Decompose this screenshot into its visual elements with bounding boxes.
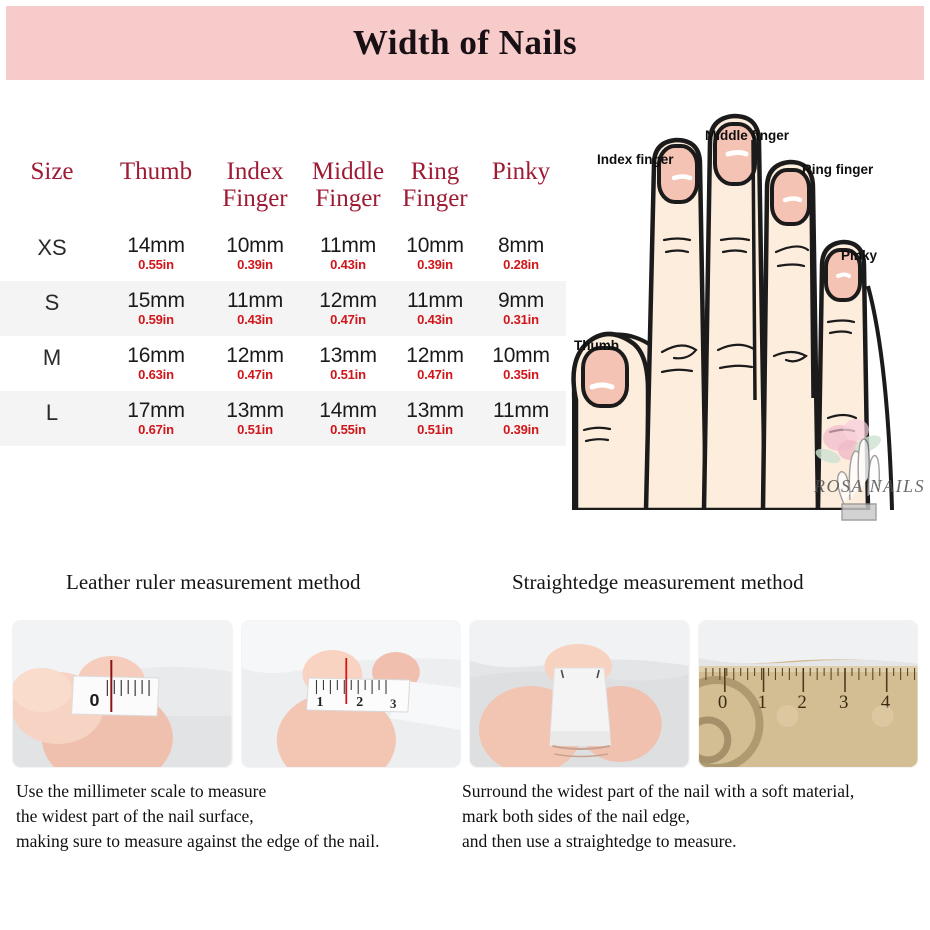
middle-nail-highlight [728, 153, 746, 155]
cell-thumb: 16mm0.63in [104, 336, 208, 382]
cell-size: S [0, 281, 104, 316]
label-pinky: Pinky [841, 248, 877, 263]
cell-pinky: 8mm0.28in [476, 226, 566, 272]
cell-middle: 12mm0.47in [302, 281, 394, 327]
cell-index: 11mm0.43in [208, 281, 302, 327]
cell-size: L [0, 391, 104, 426]
caption-straightedge-method: Surround the widest part of the nail wit… [462, 779, 854, 854]
thumb-nail [583, 348, 627, 406]
index-nail-highlight [674, 177, 690, 179]
cell-pinky: 10mm0.35in [476, 336, 566, 382]
caption-line: Surround the widest part of the nail wit… [462, 779, 854, 804]
column-header-pinky: Pinky [476, 148, 566, 185]
cell-ring: 12mm0.47in [394, 336, 476, 382]
tape-zero-mark: 0 [89, 690, 99, 710]
heading-leather-ruler-method: Leather ruler measurement method [66, 570, 360, 595]
caption-line: mark both sides of the nail edge, [462, 804, 854, 829]
cell-thumb: 14mm0.55in [104, 226, 208, 272]
cell-pinky: 11mm0.39in [476, 391, 566, 437]
table-header-row: Size Thumb IndexFinger MiddleFinger Ring… [0, 148, 566, 226]
thumb-nail-highlight [592, 385, 612, 387]
cell-size: XS [0, 226, 104, 261]
photo-row: 0 1 2 3 [12, 620, 918, 768]
label-index-finger: Index finger [597, 152, 674, 167]
caption-line: and then use a straightedge to measure. [462, 829, 854, 854]
header-line-2: Finger [402, 185, 467, 212]
heading-straightedge-method: Straightedge measurement method [512, 570, 804, 595]
tape-mark-1: 1 [316, 695, 323, 710]
cell-middle: 13mm0.51in [302, 336, 394, 382]
photo-finger-paper-wrap [469, 620, 690, 768]
hand-illustration: ROSA NAILS Index finger Middle finger Ri… [556, 100, 930, 530]
header-line-2: Finger [312, 185, 384, 212]
ruler-mark-0: 0 [717, 692, 726, 713]
header-line-1: Thumb [120, 158, 192, 185]
photo-finger-tape-scale: 1 2 3 [241, 620, 462, 768]
ruler-mark-2: 2 [797, 692, 806, 713]
cell-index: 10mm0.39in [208, 226, 302, 272]
ruler-mark-3: 3 [839, 692, 848, 713]
watermark-text: ROSA NAILS [813, 476, 925, 496]
cell-index: 13mm0.51in [208, 391, 302, 437]
header-banner: Width of Nails [6, 6, 924, 80]
header-line-1: Middle [312, 158, 384, 185]
caption-leather-ruler-method: Use the millimeter scale to measure the … [16, 779, 380, 854]
column-header-middle-finger: MiddleFinger [302, 148, 394, 212]
label-thumb: Thumb [574, 338, 619, 353]
table-row: M 16mm0.63in 12mm0.47in 13mm0.51in 12mm0… [0, 336, 566, 391]
label-middle-finger: Middle finger [705, 128, 789, 143]
header-line-1: Ring [411, 158, 460, 185]
photo-wooden-ruler: 0 1 2 3 4 [698, 620, 919, 768]
ring-finger-divider [811, 184, 813, 398]
cell-thumb: 17mm0.67in [104, 391, 208, 437]
header-line-1: Pinky [492, 158, 550, 185]
caption-line: Use the millimeter scale to measure [16, 779, 380, 804]
column-header-thumb: Thumb [104, 148, 208, 185]
caption-line: the widest part of the nail surface, [16, 804, 380, 829]
pinky-nail-highlight [838, 275, 849, 277]
cell-ring: 11mm0.43in [394, 281, 476, 327]
cell-ring: 13mm0.51in [394, 391, 476, 437]
middle-finger-divider [753, 140, 755, 400]
cell-middle: 14mm0.55in [302, 391, 394, 437]
size-table: Size Thumb IndexFinger MiddleFinger Ring… [0, 148, 566, 446]
photo-finger-tape-zero: 0 [12, 620, 233, 768]
column-header-ring-finger: RingFinger [394, 148, 476, 212]
cell-index: 12mm0.47in [208, 336, 302, 382]
header-line-1: Size [30, 158, 73, 185]
cell-size: M [0, 336, 104, 371]
cell-middle: 11mm0.43in [302, 226, 394, 272]
cell-thumb: 15mm0.59in [104, 281, 208, 327]
caption-line: making sure to measure against the edge … [16, 829, 380, 854]
table-row: XS 14mm0.55in 10mm0.39in 11mm0.43in 10mm… [0, 226, 566, 281]
column-header-size: Size [0, 148, 104, 185]
header-line-2: Finger [222, 185, 287, 212]
cell-ring: 10mm0.39in [394, 226, 476, 272]
ring-nail-highlight [785, 199, 800, 201]
tape-mark-3: 3 [389, 696, 396, 711]
label-ring-finger: Ring finger [802, 162, 873, 177]
cell-pinky: 9mm0.31in [476, 281, 566, 327]
tape-mark-2: 2 [356, 695, 363, 710]
table-row: S 15mm0.59in 11mm0.43in 12mm0.47in 11mm0… [0, 281, 566, 336]
table-row: L 17mm0.67in 13mm0.51in 14mm0.55in 13mm0… [0, 391, 566, 446]
header-line-1: Index [227, 158, 284, 185]
column-header-index-finger: IndexFinger [208, 148, 302, 212]
page-title: Width of Nails [353, 23, 577, 63]
